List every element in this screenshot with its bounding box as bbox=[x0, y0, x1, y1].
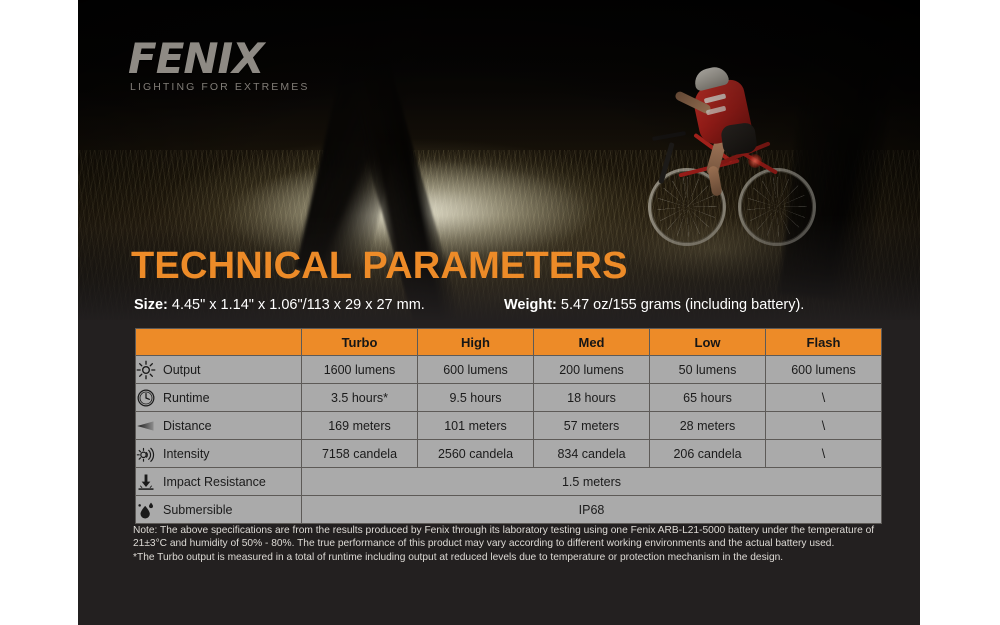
impact-arrow-icon bbox=[136, 472, 156, 492]
table-row: Intensity 7158 candela 2560 candela 834 … bbox=[136, 440, 882, 468]
cell-runtime-high: 9.5 hours bbox=[418, 384, 534, 412]
cell-intensity-low: 206 candela bbox=[650, 440, 766, 468]
row-header-output: Output bbox=[136, 356, 302, 384]
cell-output-low: 50 lumens bbox=[650, 356, 766, 384]
cell-distance-med: 57 meters bbox=[534, 412, 650, 440]
weight-value: 5.47 oz/155 grams (including battery). bbox=[561, 297, 804, 313]
size-value: 4.45" x 1.14" x 1.06"/113 x 29 x 27 mm. bbox=[172, 297, 425, 313]
cell-distance-low: 28 meters bbox=[650, 412, 766, 440]
table-row: Runtime 3.5 hours* 9.5 hours 18 hours 65… bbox=[136, 384, 882, 412]
size-spec: Size: 4.45" x 1.14" x 1.06"/113 x 29 x 2… bbox=[134, 297, 504, 313]
row-label: Output bbox=[163, 363, 201, 377]
weight-spec: Weight: 5.47 oz/155 grams (including bat… bbox=[504, 297, 874, 313]
cell-output-med: 200 lumens bbox=[534, 356, 650, 384]
dark-content-panel: FENIX LIGHTING FOR EXTREMES TECHNICAL PA… bbox=[78, 0, 920, 625]
table-row: Distance 169 meters 101 meters 57 meters… bbox=[136, 412, 882, 440]
row-label: Intensity bbox=[163, 447, 210, 461]
size-weight-line: Size: 4.45" x 1.14" x 1.06"/113 x 29 x 2… bbox=[134, 297, 874, 313]
row-header-intensity: Intensity bbox=[136, 440, 302, 468]
column-header-med: Med bbox=[534, 329, 650, 356]
cell-submersible-value: IP68 bbox=[302, 496, 882, 524]
cell-intensity-turbo: 7158 candela bbox=[302, 440, 418, 468]
column-header-turbo: Turbo bbox=[302, 329, 418, 356]
cell-intensity-flash: \ bbox=[766, 440, 882, 468]
cell-output-turbo: 1600 lumens bbox=[302, 356, 418, 384]
footnote-line-1: Note: The above specifications are from … bbox=[133, 524, 881, 551]
row-header-distance: Distance bbox=[136, 412, 302, 440]
water-drop-icon bbox=[136, 500, 156, 520]
row-label: Impact Resistance bbox=[163, 475, 266, 489]
table-row: Impact Resistance 1.5 meters bbox=[136, 468, 882, 496]
column-header-high: High bbox=[418, 329, 534, 356]
table-corner-cell bbox=[136, 329, 302, 356]
fenix-logo: FENIX LIGHTING FOR EXTREMES bbox=[128, 38, 309, 93]
table-header-row: Turbo High Med Low Flash bbox=[136, 329, 882, 356]
fenix-tagline: LIGHTING FOR EXTREMES bbox=[130, 81, 309, 93]
table-body: Output 1600 lumens 600 lumens 200 lumens… bbox=[136, 356, 882, 524]
intensity-icon bbox=[136, 444, 156, 464]
cell-intensity-high: 2560 candela bbox=[418, 440, 534, 468]
cell-runtime-low: 65 hours bbox=[650, 384, 766, 412]
cell-distance-turbo: 169 meters bbox=[302, 412, 418, 440]
footnote-line-2: *The Turbo output is measured in a total… bbox=[133, 551, 881, 564]
cell-runtime-flash: \ bbox=[766, 384, 882, 412]
cell-impact-resistance-value: 1.5 meters bbox=[302, 468, 882, 496]
row-header-submersible: Submersible bbox=[136, 496, 302, 524]
table-row: Output 1600 lumens 600 lumens 200 lumens… bbox=[136, 356, 882, 384]
sun-output-icon bbox=[136, 360, 156, 380]
row-label: Distance bbox=[163, 419, 212, 433]
size-label: Size: bbox=[134, 297, 168, 313]
cell-intensity-med: 834 candela bbox=[534, 440, 650, 468]
row-label: Submersible bbox=[163, 503, 232, 517]
column-header-flash: Flash bbox=[766, 329, 882, 356]
beam-distance-icon bbox=[136, 416, 156, 436]
technical-parameters-table: Turbo High Med Low Flash bbox=[135, 328, 882, 524]
column-header-low: Low bbox=[650, 329, 766, 356]
row-header-runtime: Runtime bbox=[136, 384, 302, 412]
cell-output-flash: 600 lumens bbox=[766, 356, 882, 384]
weight-label: Weight: bbox=[504, 297, 557, 313]
fenix-wordmark: FENIX bbox=[128, 38, 309, 80]
row-label: Runtime bbox=[163, 391, 210, 405]
page-title: TECHNICAL PARAMETERS bbox=[131, 247, 628, 285]
footnote-block: Note: The above specifications are from … bbox=[133, 524, 881, 564]
cell-output-high: 600 lumens bbox=[418, 356, 534, 384]
row-header-impact-resistance: Impact Resistance bbox=[136, 468, 302, 496]
clock-runtime-icon bbox=[136, 388, 156, 408]
product-spec-sheet: FENIX LIGHTING FOR EXTREMES TECHNICAL PA… bbox=[0, 0, 1000, 625]
cell-runtime-turbo: 3.5 hours* bbox=[302, 384, 418, 412]
table-row: Submersible IP68 bbox=[136, 496, 882, 524]
cell-runtime-med: 18 hours bbox=[534, 384, 650, 412]
cell-distance-high: 101 meters bbox=[418, 412, 534, 440]
cell-distance-flash: \ bbox=[766, 412, 882, 440]
table-header: Turbo High Med Low Flash bbox=[136, 329, 882, 356]
